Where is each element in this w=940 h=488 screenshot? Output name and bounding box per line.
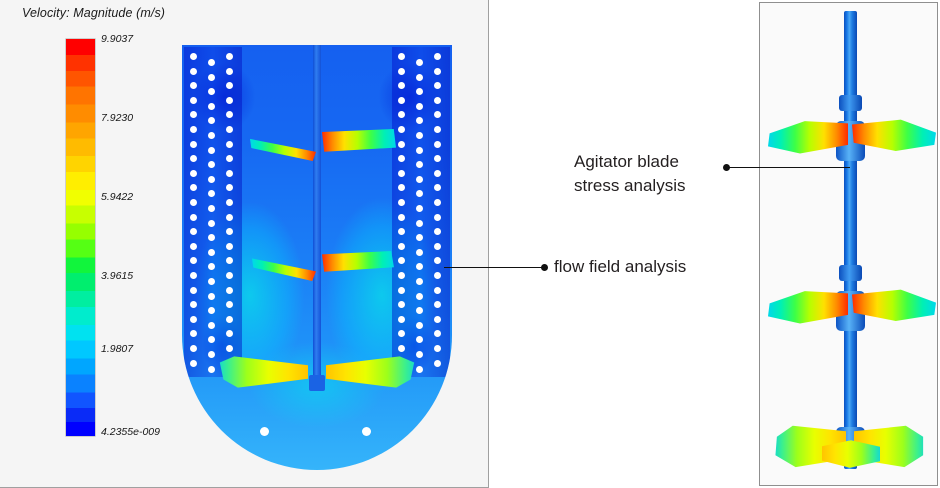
- coil-hole: [190, 316, 197, 323]
- coil-hole: [416, 176, 423, 183]
- coil-hole: [398, 97, 405, 104]
- coil-hole: [434, 316, 441, 323]
- coil-hole: [190, 97, 197, 104]
- coil-hole: [398, 53, 405, 60]
- coil-hole: [434, 170, 441, 177]
- coil-hole: [434, 141, 441, 148]
- coil-hole: [398, 316, 405, 323]
- coil-hole: [416, 147, 423, 154]
- coil-hole: [398, 141, 405, 148]
- shaft-collar-middle: [839, 265, 862, 281]
- coil-hole: [208, 59, 215, 66]
- coil-hole: [434, 272, 441, 279]
- leader-dot-flow-field: [541, 264, 548, 271]
- tank-cross-section: [182, 45, 452, 470]
- coil-hole: [226, 316, 233, 323]
- page-title: Velocity: Magnitude (m/s): [22, 6, 165, 20]
- fea-stress-panel: [759, 2, 938, 486]
- coil-hole: [416, 366, 423, 373]
- coil-hole: [226, 68, 233, 75]
- coil-hole: [434, 360, 441, 367]
- coil-hole: [398, 170, 405, 177]
- coil-hole: [416, 351, 423, 358]
- coil-hole: [226, 272, 233, 279]
- coil-hole: [190, 214, 197, 221]
- impeller-blade-upper-left: [250, 137, 316, 161]
- coil-hole: [190, 170, 197, 177]
- annotation-agitator-stress-line2: stress analysis: [574, 174, 685, 198]
- coil-hole: [416, 293, 423, 300]
- leader-line-flow-field: [444, 267, 544, 268]
- impeller-blade-middle-right: [322, 251, 394, 279]
- coil-hole: [398, 214, 405, 221]
- colorbar-label-min: 4.2355e-009: [101, 426, 160, 438]
- bottom-hole-right: [362, 427, 371, 436]
- colorbar-label-4: 7.9230: [101, 112, 133, 124]
- coil-hole: [398, 126, 405, 133]
- coil-hole: [190, 243, 197, 250]
- coil-hole: [226, 170, 233, 177]
- coil-hole: [434, 126, 441, 133]
- coil-hole: [416, 59, 423, 66]
- impeller-blade-bottom-right: [326, 355, 416, 389]
- coil-hole: [190, 199, 197, 206]
- coil-hole: [434, 287, 441, 294]
- coil-hole: [190, 287, 197, 294]
- shaft-collar-upper: [839, 95, 862, 111]
- coil-hole: [208, 351, 215, 358]
- coil-hole: [434, 345, 441, 352]
- impeller-blade-middle-left: [252, 257, 316, 281]
- coil-hole: [190, 141, 197, 148]
- coil-hole: [226, 287, 233, 294]
- coil-hole: [434, 53, 441, 60]
- coil-hole: [416, 278, 423, 285]
- fea-blade-upper-left: [768, 119, 848, 155]
- agitator-3d-model: [760, 3, 939, 487]
- cfd-contour-panel: Velocity: Magnitude (m/s) 9.9037 7.9230 …: [0, 0, 489, 488]
- coil-hole: [434, 199, 441, 206]
- colorbar-label-max: 9.9037: [101, 33, 133, 45]
- coil-hole: [416, 249, 423, 256]
- coil-hole: [398, 287, 405, 294]
- coil-hole: [190, 272, 197, 279]
- coil-hole: [226, 53, 233, 60]
- coil-hole: [226, 345, 233, 352]
- coil-hole: [208, 147, 215, 154]
- coil-hole: [208, 220, 215, 227]
- coil-hole: [398, 68, 405, 75]
- coil-hole: [190, 68, 197, 75]
- coil-hole: [208, 176, 215, 183]
- coil-hole: [416, 205, 423, 212]
- coil-hole: [208, 366, 215, 373]
- coil-hole: [434, 214, 441, 221]
- coil-hole: [190, 53, 197, 60]
- colorbar-label-1: 1.9807: [101, 343, 133, 355]
- agitator-shaft-3d: [844, 11, 857, 469]
- annotation-flow-field: flow field analysis: [554, 255, 686, 279]
- coil-hole: [208, 103, 215, 110]
- coil-hole: [208, 278, 215, 285]
- coil-hole: [416, 322, 423, 329]
- coil-hole: [434, 243, 441, 250]
- coil-hole: [208, 293, 215, 300]
- fea-blade-bottom-center: [822, 439, 880, 469]
- coil-hole: [416, 132, 423, 139]
- coil-hole: [226, 97, 233, 104]
- annotation-agitator-stress-line1: Agitator blade: [574, 150, 679, 174]
- coil-hole: [190, 345, 197, 352]
- fea-blade-middle-left: [768, 289, 848, 325]
- coil-hole: [398, 272, 405, 279]
- coil-hole: [398, 243, 405, 250]
- coil-hole: [208, 205, 215, 212]
- coil-hole: [398, 345, 405, 352]
- colorbar-label-2: 3.9615: [101, 270, 133, 282]
- colorbar: [66, 39, 95, 436]
- coil-hole: [226, 214, 233, 221]
- leader-line-agitator-stress: [729, 167, 850, 168]
- coil-hole: [208, 132, 215, 139]
- coil-hole: [208, 74, 215, 81]
- impeller-blade-upper-right: [322, 129, 396, 159]
- coil-hole: [226, 243, 233, 250]
- coil-hole: [434, 68, 441, 75]
- fea-blade-middle-right: [852, 289, 936, 323]
- fea-blade-upper-right: [852, 119, 936, 153]
- coil-hole: [208, 322, 215, 329]
- coil-hole: [416, 103, 423, 110]
- coil-hole: [226, 199, 233, 206]
- bottom-hole-left: [260, 427, 269, 436]
- coil-hole: [208, 249, 215, 256]
- coil-hole: [190, 360, 197, 367]
- bottom-hub-section: [309, 375, 325, 391]
- agitator-shaft-section: [313, 45, 321, 385]
- coil-hole: [226, 141, 233, 148]
- colorbar-label-3: 5.9422: [101, 191, 133, 203]
- colorbar-gradient: [66, 39, 95, 436]
- figure-canvas: Velocity: Magnitude (m/s) 9.9037 7.9230 …: [0, 0, 940, 488]
- coil-hole: [434, 97, 441, 104]
- tank-vessel-contour: [182, 45, 452, 470]
- coil-hole: [416, 74, 423, 81]
- impeller-blade-bottom-left: [218, 355, 308, 389]
- coil-hole: [398, 199, 405, 206]
- coil-hole: [416, 220, 423, 227]
- coil-hole: [226, 126, 233, 133]
- coil-hole: [190, 126, 197, 133]
